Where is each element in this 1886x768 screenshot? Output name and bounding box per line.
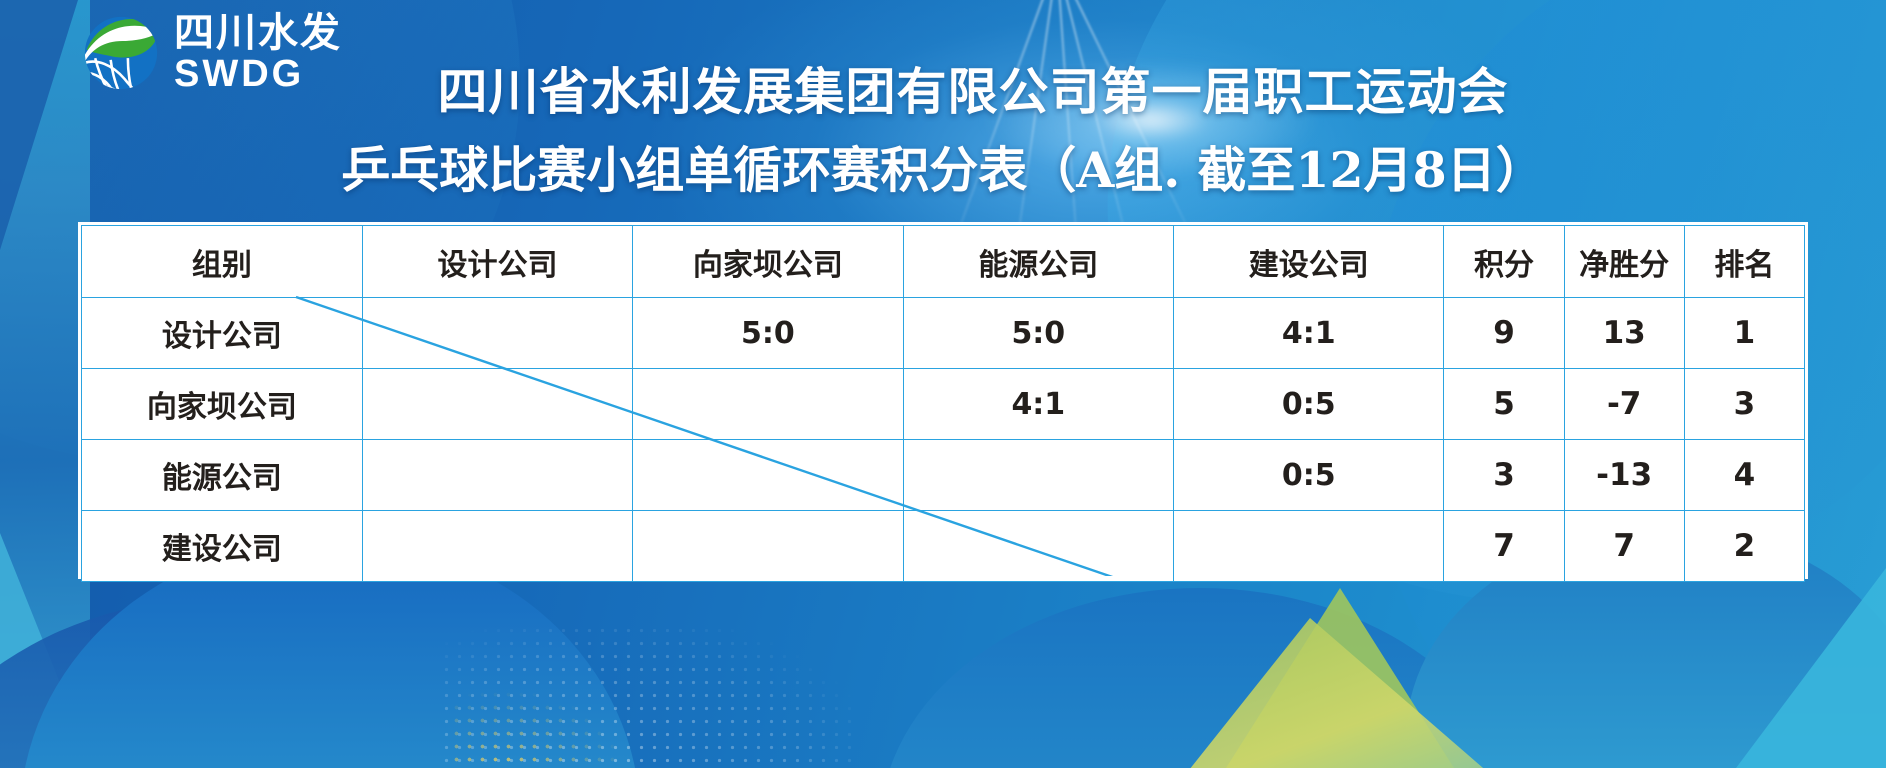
match-cell [903, 511, 1173, 582]
row-net-score: -13 [1564, 440, 1684, 511]
match-cell: 0:5 [1174, 369, 1444, 440]
match-cell: 4:1 [1174, 298, 1444, 369]
match-cell: 5:0 [903, 298, 1173, 369]
table-row: 设计公司 5:0 5:0 4:1 9 13 1 [82, 298, 1805, 369]
table-row: 向家坝公司 4:1 0:5 5 -7 3 [82, 369, 1805, 440]
match-cell [362, 440, 632, 511]
match-cell: 5:0 [633, 298, 903, 369]
row-team-name: 建设公司 [82, 511, 363, 582]
match-cell: 4:1 [903, 369, 1173, 440]
match-cell: 0:5 [1174, 440, 1444, 511]
match-cell-self [1174, 511, 1444, 582]
table-header-row: 组别 设计公司 向家坝公司 能源公司 建设公司 积分 净胜分 排名 [82, 226, 1805, 298]
column-header-construction: 建设公司 [1174, 226, 1444, 298]
row-net-score: 13 [1564, 298, 1684, 369]
standings-table-container: 组别 设计公司 向家坝公司 能源公司 建设公司 积分 净胜分 排名 设计公司 5… [78, 222, 1808, 579]
match-cell [633, 511, 903, 582]
row-rank: 3 [1684, 369, 1804, 440]
row-team-name: 能源公司 [82, 440, 363, 511]
column-header-points: 积分 [1444, 226, 1564, 298]
row-team-name: 向家坝公司 [82, 369, 363, 440]
match-cell-self [362, 298, 632, 369]
match-cell [633, 440, 903, 511]
row-team-name: 设计公司 [82, 298, 363, 369]
standings-table: 组别 设计公司 向家坝公司 能源公司 建设公司 积分 净胜分 排名 设计公司 5… [81, 225, 1805, 582]
row-rank: 1 [1684, 298, 1804, 369]
row-rank: 4 [1684, 440, 1804, 511]
row-points: 7 [1444, 511, 1564, 582]
logo-chinese-text: 四川水发 [174, 13, 342, 53]
page-subtitle: 乒乓球比赛小组单循环赛积分表（A组. 截至12月8日） [0, 131, 1886, 202]
row-net-score: -7 [1564, 369, 1684, 440]
row-net-score: 7 [1564, 511, 1684, 582]
match-cell [362, 511, 632, 582]
column-header-group: 组别 [82, 226, 363, 298]
match-cell [362, 369, 632, 440]
column-header-energy: 能源公司 [903, 226, 1173, 298]
column-header-net-score: 净胜分 [1564, 226, 1684, 298]
row-points: 5 [1444, 369, 1564, 440]
match-cell-self [903, 440, 1173, 511]
table-row: 能源公司 0:5 3 -13 4 [82, 440, 1805, 511]
row-rank: 2 [1684, 511, 1804, 582]
row-points: 3 [1444, 440, 1564, 511]
page-title: 四川省水利发展集团有限公司第一届职工运动会 [0, 52, 1886, 124]
table-row: 建设公司 7 7 2 [82, 511, 1805, 582]
column-header-design: 设计公司 [362, 226, 632, 298]
row-points: 9 [1444, 298, 1564, 369]
column-header-rank: 排名 [1684, 226, 1804, 298]
column-header-xiangjiaba: 向家坝公司 [633, 226, 903, 298]
match-cell-self [633, 369, 903, 440]
